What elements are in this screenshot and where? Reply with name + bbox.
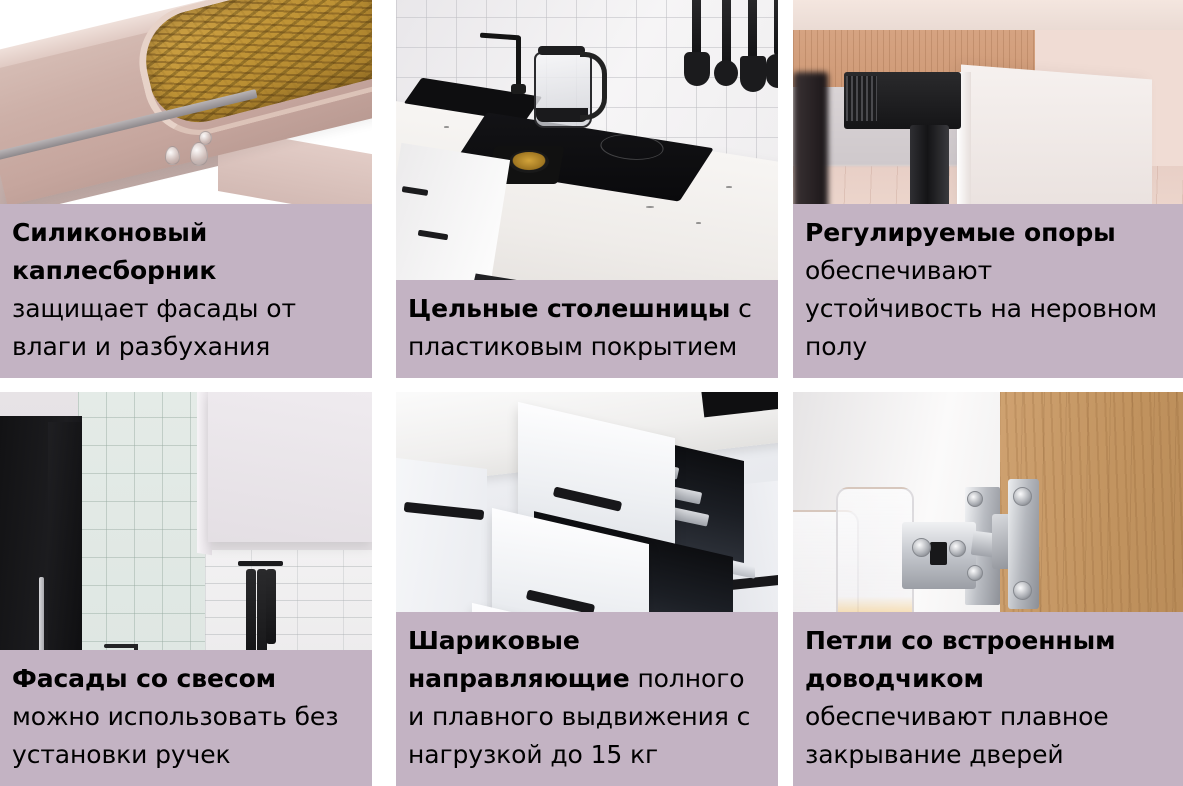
caption-bold-text: Силиконовый каплесборник	[12, 218, 216, 285]
feature-panel-soft-close-hinge[interactable]: Петли со встроенным доводчиком обеспечив…	[793, 392, 1183, 786]
hanging-towel	[246, 569, 256, 656]
screw-icon	[967, 491, 983, 507]
caption-regular-text: обеспечивают устойчивость на неровном по…	[805, 256, 1157, 361]
feature-panel-drip-catcher[interactable]: Силиконовый каплесборник защищает фасады…	[0, 0, 372, 378]
caption-bold-text: Регулируемые опоры	[805, 218, 1116, 247]
water-drop-icon	[165, 146, 180, 165]
frying-pan	[509, 150, 549, 173]
upper-cabinet-front	[208, 392, 372, 542]
panel-caption: Силиконовый каплесборник защищает фасады…	[0, 204, 372, 378]
hanging-towel	[266, 569, 276, 644]
ladle-icon	[722, 0, 731, 66]
marble-speck	[646, 206, 654, 208]
panel-caption: Петли со встроенным доводчиком обеспечив…	[793, 612, 1183, 786]
caption-regular-text: защищает фасады от влаги и разбухания	[12, 294, 296, 361]
marble-speck	[726, 186, 732, 188]
marble-speck	[696, 222, 701, 224]
water-drop-icon	[199, 131, 212, 145]
kettle-lid	[538, 46, 585, 55]
caption-bold-text: Шариковые направляющие	[408, 626, 630, 693]
marble-speck	[444, 126, 449, 128]
spatula-icon	[692, 0, 701, 58]
spatula-icon	[684, 52, 710, 86]
spoon-icon	[774, 0, 778, 56]
feature-panel-ball-bearing-slides[interactable]: Шариковые направляющие полного и плавног…	[396, 392, 778, 786]
panel-caption: Фасады со свесом можно использовать без …	[0, 650, 372, 786]
caption-bold-text: Петли со встроенным доводчиком	[805, 626, 1115, 693]
caption-bold-text: Цельные столешницы	[408, 294, 730, 323]
hinge-adjuster-window	[930, 542, 948, 566]
background-leg	[793, 72, 828, 216]
feature-panel-overhang-fronts[interactable]: Фасады со свесом можно использовать без …	[0, 392, 372, 786]
screw-icon	[967, 565, 983, 581]
utensil-rail	[238, 561, 283, 566]
water-drop-icon	[190, 142, 208, 166]
panel-caption: Регулируемые опоры обеспечивают устойчив…	[793, 204, 1183, 378]
faucet-icon	[516, 36, 521, 90]
faucet-base	[511, 84, 526, 94]
screw-icon	[1013, 487, 1032, 506]
caption-regular-text: обеспечивают плавное закрывание дверей	[805, 702, 1109, 769]
caption-regular-text: можно использовать без установки ручек	[12, 702, 338, 769]
ladle-icon	[714, 60, 738, 86]
feature-grid: Силиконовый каплесборник защищает фасады…	[0, 0, 1183, 786]
panel-caption: Шариковые направляющие полного и плавног…	[396, 612, 778, 786]
turner-icon	[740, 56, 766, 92]
spoon-icon	[766, 54, 778, 88]
cabinet-upper-edge	[793, 0, 1183, 30]
feature-panel-adjustable-legs[interactable]: Регулируемые опоры обеспечивают устойчив…	[793, 0, 1183, 378]
kettle-handle	[580, 52, 607, 120]
caption-bold-text: Фасады со свесом	[12, 664, 276, 693]
leg-clip-fins	[846, 76, 877, 121]
faucet-icon	[104, 644, 137, 648]
panel-caption: Цельные столешницы с пластиковым покрыти…	[396, 280, 778, 378]
feature-panel-solid-worktop[interactable]: Цельные столешницы с пластиковым покрыти…	[396, 0, 778, 378]
screw-icon	[949, 540, 966, 557]
screw-icon	[912, 538, 931, 557]
turner-icon	[748, 0, 757, 60]
